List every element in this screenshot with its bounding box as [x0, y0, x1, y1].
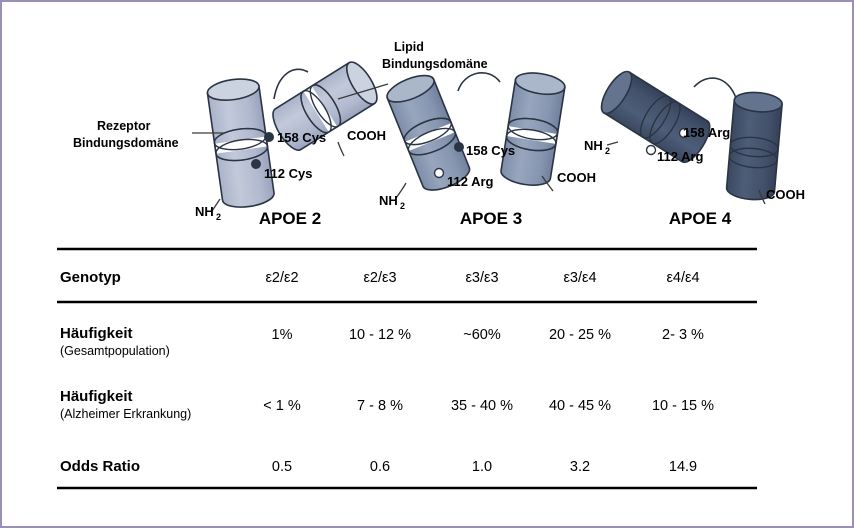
row-sublabel-alzheimer: (Alzheimer Erkrankung) [60, 407, 191, 421]
lipid-binding-domain-label-line1: Lipid [394, 40, 424, 54]
receptor-binding-domain-label-line1: Rezeptor [97, 119, 151, 133]
apoe3-site-158-label: 158 Cys [466, 143, 515, 158]
genotype-table: Genotyp ε2/ε2 ε2/ε3 ε3/ε3 ε3/ε4 ε4/ε4 Hä… [57, 249, 757, 488]
cell-alzheimer-1: 7 - 8 % [357, 398, 403, 414]
table-row: Odds Ratio 0.5 0.6 1.0 3.2 14.9 [60, 458, 697, 475]
apoe4-nh2-tail [607, 142, 618, 145]
apoe4-site-158-label: 158 Arg [683, 125, 730, 140]
apoe3-site-112-label: 112 Arg [447, 174, 494, 189]
apoe4-site-112-marker [647, 146, 656, 155]
apoe4-cooh-label: COOH [766, 187, 805, 202]
figure-canvas: Rezeptor Bindungsdomäne 158 Cys 112 Cys … [2, 2, 854, 528]
apoe3-cooh-label: COOH [557, 170, 596, 185]
apoe2-cooh-tail [338, 142, 344, 156]
cell-odds-4: 14.9 [669, 459, 697, 475]
apoe4-nh2-subscript: 2 [605, 146, 610, 156]
apoe3-linker [458, 73, 500, 91]
apoe4-c-terminal-cylinder [726, 91, 783, 202]
apoe4-nh2-label: NH [584, 138, 603, 153]
cell-gesamt-0: 1% [272, 327, 293, 343]
cell-alzheimer-0: < 1 % [263, 398, 301, 414]
apoe2-nh2-label: NH [195, 204, 214, 219]
apoe3-nh2-label: NH [379, 193, 398, 208]
apoe2-nh2-subscript: 2 [216, 212, 221, 222]
apoe3-site-112-marker [435, 169, 444, 178]
cell-odds-2: 1.0 [472, 459, 492, 475]
row-label-genotyp: Genotyp [60, 269, 121, 286]
table-row: Häufigkeit (Gesamtpopulation) 1% 10 - 12… [60, 325, 704, 358]
cell-alzheimer-3: 40 - 45 % [549, 398, 611, 414]
apoe4-title: APOE 4 [669, 209, 732, 228]
apoe2-site-158-marker [265, 133, 274, 142]
apoe-isoform-figure: Rezeptor Bindungsdomäne 158 Cys 112 Cys … [0, 0, 854, 528]
cell-odds-1: 0.6 [370, 459, 390, 475]
cell-gesamt-4: 2- 3 % [662, 327, 704, 343]
apoe4-linker [694, 78, 736, 98]
cell-gesamt-3: 20 - 25 % [549, 327, 611, 343]
cell-odds-0: 0.5 [272, 459, 292, 475]
cell-alzheimer-4: 10 - 15 % [652, 398, 714, 414]
table-row: Genotyp ε2/ε2 ε2/ε3 ε3/ε3 ε3/ε4 ε4/ε4 [60, 269, 700, 286]
apoe2-site-112-label: 112 Cys [264, 166, 312, 181]
cell-odds-3: 3.2 [570, 459, 590, 475]
cell-genotyp-1: ε2/ε3 [363, 270, 396, 286]
apoe2-n-terminal-cylinder [206, 76, 275, 210]
row-label-odds-ratio: Odds Ratio [60, 458, 140, 475]
cell-genotyp-2: ε3/ε3 [465, 270, 498, 286]
row-label-haeufigkeit-gesamt: Häufigkeit [60, 325, 133, 342]
cell-alzheimer-2: 35 - 40 % [451, 398, 513, 414]
apoe3-site-158-marker [455, 143, 464, 152]
cell-genotyp-3: ε3/ε4 [563, 270, 596, 286]
apoe2-cooh-label: COOH [347, 128, 386, 143]
table-row: Häufigkeit (Alzheimer Erkrankung) < 1 % … [60, 388, 714, 421]
cell-genotyp-4: ε4/ε4 [666, 270, 699, 286]
apoe2-site-112-marker [252, 160, 261, 169]
cell-gesamt-1: 10 - 12 % [349, 327, 411, 343]
row-label-haeufigkeit-alzheimer: Häufigkeit [60, 388, 133, 405]
receptor-binding-domain-label-line2: Bindungsdomäne [73, 136, 179, 150]
lipid-binding-domain-label-line2: Bindungsdomäne [382, 57, 488, 71]
apoe3-nh2-subscript: 2 [400, 201, 405, 211]
apoe3-title: APOE 3 [460, 209, 522, 228]
apoe4-site-112-label: 112 Arg [657, 149, 704, 164]
cell-gesamt-2: ~60% [463, 327, 501, 343]
apoe2-title: APOE 2 [259, 209, 321, 228]
row-sublabel-gesamtpopulation: (Gesamtpopulation) [60, 344, 170, 358]
cell-genotyp-0: ε2/ε2 [265, 270, 298, 286]
apoe2-site-158-label: 158 Cys [277, 130, 326, 145]
